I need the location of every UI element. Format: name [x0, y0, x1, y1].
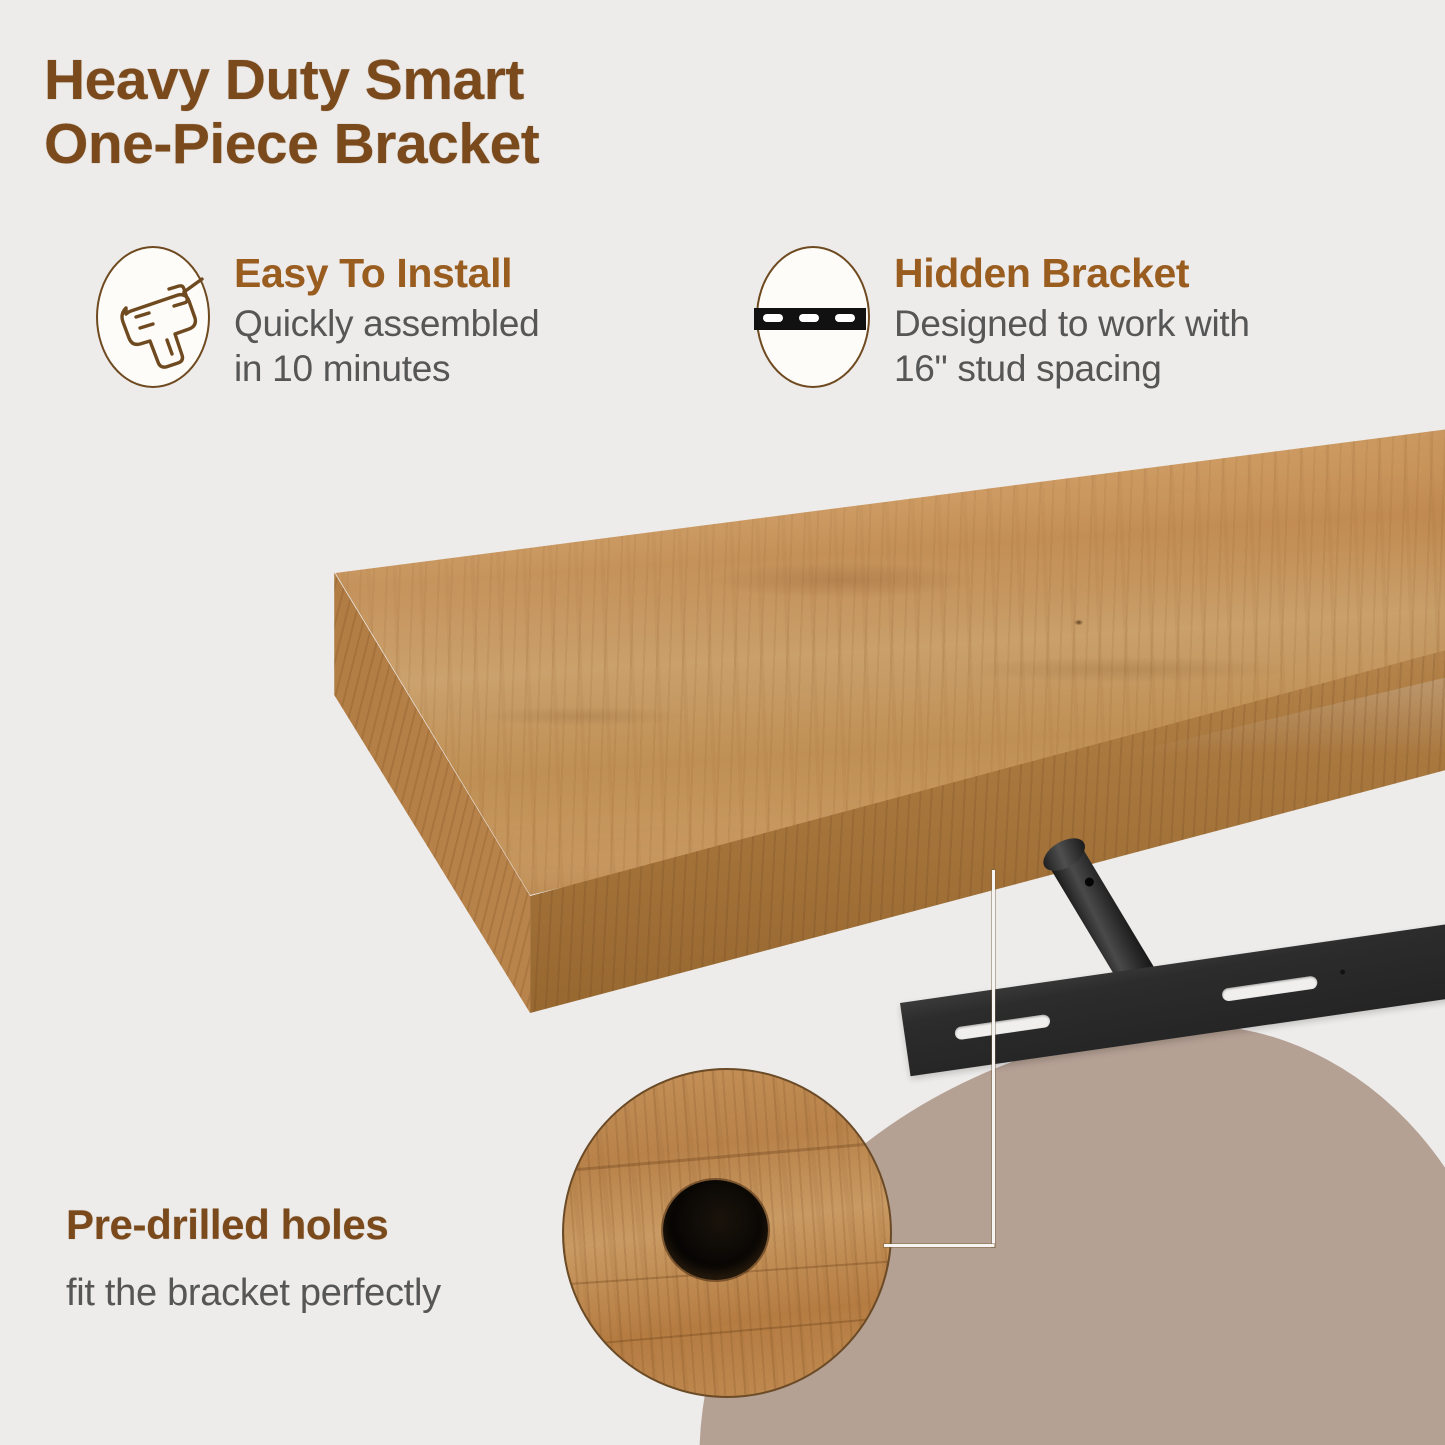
bracket-screw-hole [1340, 969, 1346, 975]
wood-grain-line [562, 1138, 892, 1175]
caption-title: Pre-drilled holes [66, 1202, 441, 1248]
bracket-slot [1221, 975, 1318, 1002]
wood-grain-line [562, 1314, 892, 1350]
bracket-bar-icon [756, 246, 870, 388]
magnifier-inset [562, 1068, 892, 1398]
feature-list: Easy To Install Quickly assembled in 10 … [96, 246, 1396, 391]
page-title: Heavy Duty Smart One-Piece Bracket [44, 48, 539, 177]
feature-easy-to-install: Easy To Install Quickly assembled in 10 … [96, 246, 756, 391]
pre-drilled-caption: Pre-drilled holes fit the bracket perfec… [66, 1184, 441, 1333]
callout-leader-vertical [992, 870, 995, 1247]
bracket-slot [954, 1014, 1051, 1041]
feature-title: Hidden Bracket [894, 252, 1250, 295]
feature-hidden-bracket: Hidden Bracket Designed to work with 16"… [756, 246, 1376, 391]
feature-title: Easy To Install [234, 252, 539, 295]
caption-subtitle: fit the bracket perfectly [66, 1273, 441, 1315]
feature-text-block: Hidden Bracket Designed to work with 16"… [870, 246, 1250, 391]
product-infographic: Heavy Duty Smart One-Piece Bracket Easy … [0, 0, 1445, 1445]
feature-body: Quickly assembled in 10 minutes [234, 301, 539, 391]
callout-leader-horizontal [884, 1244, 994, 1247]
feature-text-block: Easy To Install Quickly assembled in 10 … [210, 246, 539, 391]
pre-drilled-hole [663, 1180, 768, 1280]
feature-body: Designed to work with 16" stud spacing [894, 301, 1250, 391]
drill-icon [96, 246, 210, 388]
